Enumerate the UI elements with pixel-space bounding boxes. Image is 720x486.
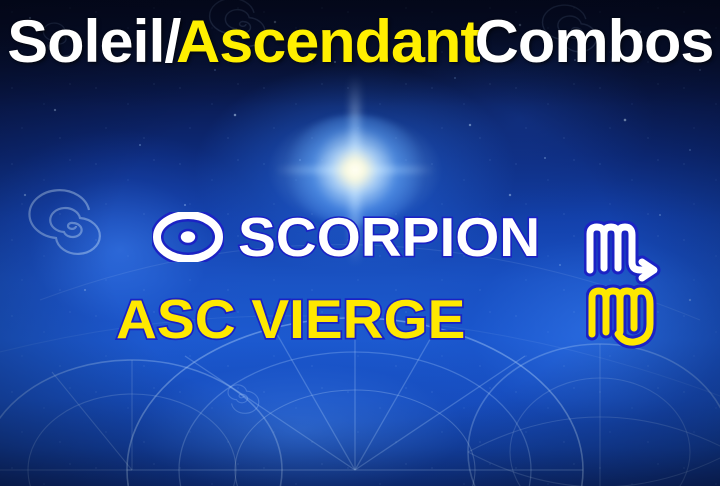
ascendant-sign-line: ASC VIERGE (116, 288, 455, 350)
page-title: Soleil/Ascendant Combos (0, 6, 720, 78)
ascendant-label: ASC VIERGE (116, 292, 465, 347)
scorpio-glyph-icon (584, 218, 670, 284)
title-part-ascendant: Ascendant (176, 12, 480, 72)
sun-symbol-icon (152, 212, 224, 262)
sun-sign-line: SCORPION (152, 206, 531, 268)
virgo-glyph-icon (586, 284, 670, 352)
title-part-soleil: Soleil/ (8, 12, 181, 72)
zodiac-glyph-stack (580, 218, 680, 363)
astrology-poster: Soleil/Ascendant Combos SCORPION ASC VIE… (0, 0, 720, 486)
sun-sign-label: SCORPION (238, 210, 540, 265)
title-part-combos: Combos (474, 12, 713, 72)
